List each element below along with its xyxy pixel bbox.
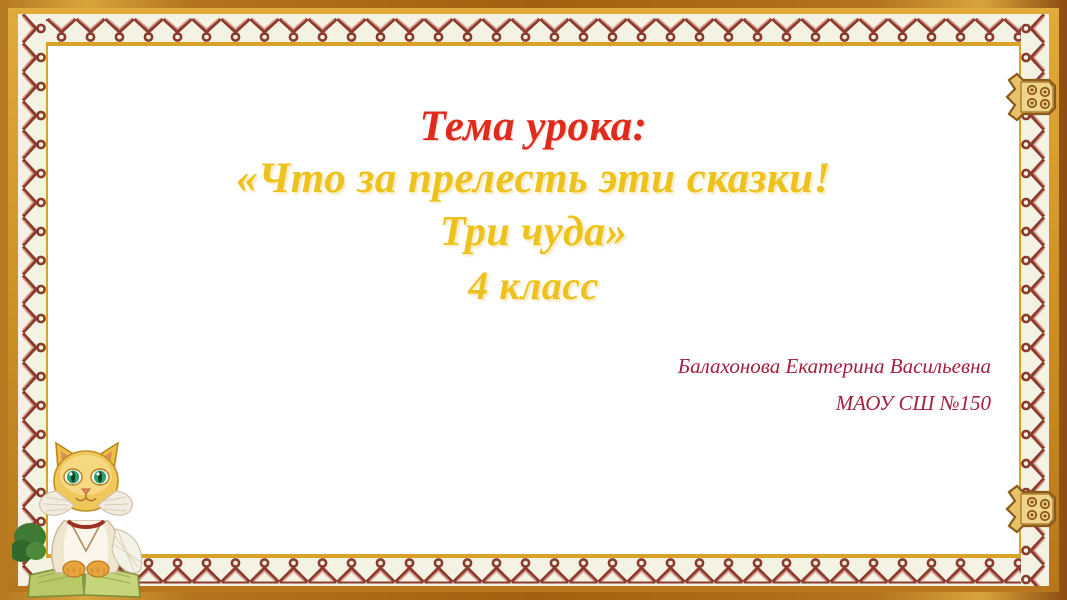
subject-line-1: «Что за прелесть эти сказки!	[52, 151, 1015, 206]
slide-content: Тема урока: «Что за прелесть эти сказки!…	[52, 50, 1015, 550]
title-text-block: Тема урока: «Что за прелесть эти сказки!…	[52, 102, 1015, 311]
title-slide: Тема урока: «Что за прелесть эти сказки!…	[0, 0, 1067, 600]
subject-line-2: Три чуда»	[52, 206, 1015, 260]
gold-medallion-icon-top	[1001, 68, 1061, 126]
scholar-cat-icon	[12, 425, 167, 600]
institution-name: МАОУ СШ №150	[678, 385, 991, 422]
credits-block: Балахонова Екатерина Васильевна МАОУ СШ …	[678, 348, 991, 422]
author-name: Балахонова Екатерина Васильевна	[678, 348, 991, 385]
gold-medallion-icon-bottom	[1001, 480, 1061, 538]
page-title: Тема урока:	[52, 102, 1015, 151]
subject-line-3: 4 класс	[52, 260, 1015, 311]
